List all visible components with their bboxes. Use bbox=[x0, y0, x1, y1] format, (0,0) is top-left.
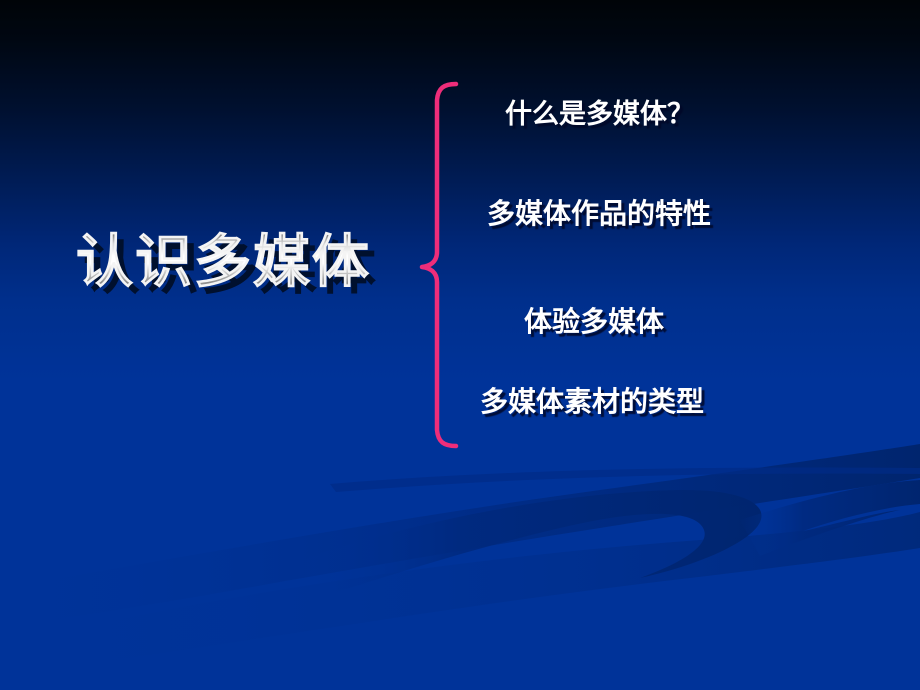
presentation-slide: 认识多媒体 认识多媒体 认识多媒体 什么是多媒体？ 多媒体作品的特性 体验多媒体… bbox=[0, 0, 920, 690]
slide-title: 认识多媒体 认识多媒体 认识多媒体 bbox=[76, 222, 386, 308]
agenda-item-what-is-multimedia[interactable]: 什么是多媒体？ bbox=[505, 92, 694, 131]
agenda-item-experience-multimedia[interactable]: 体验多媒体 bbox=[524, 300, 664, 340]
agenda-item-multimedia-work-features[interactable]: 多媒体作品的特性 bbox=[487, 192, 711, 232]
background-swirl-decoration bbox=[0, 0, 920, 690]
agenda-item-multimedia-material-types[interactable]: 多媒体素材的类型 bbox=[480, 380, 704, 420]
curly-brace-icon bbox=[400, 80, 480, 450]
slide-title-outline: 认识多媒体 bbox=[76, 222, 386, 302]
